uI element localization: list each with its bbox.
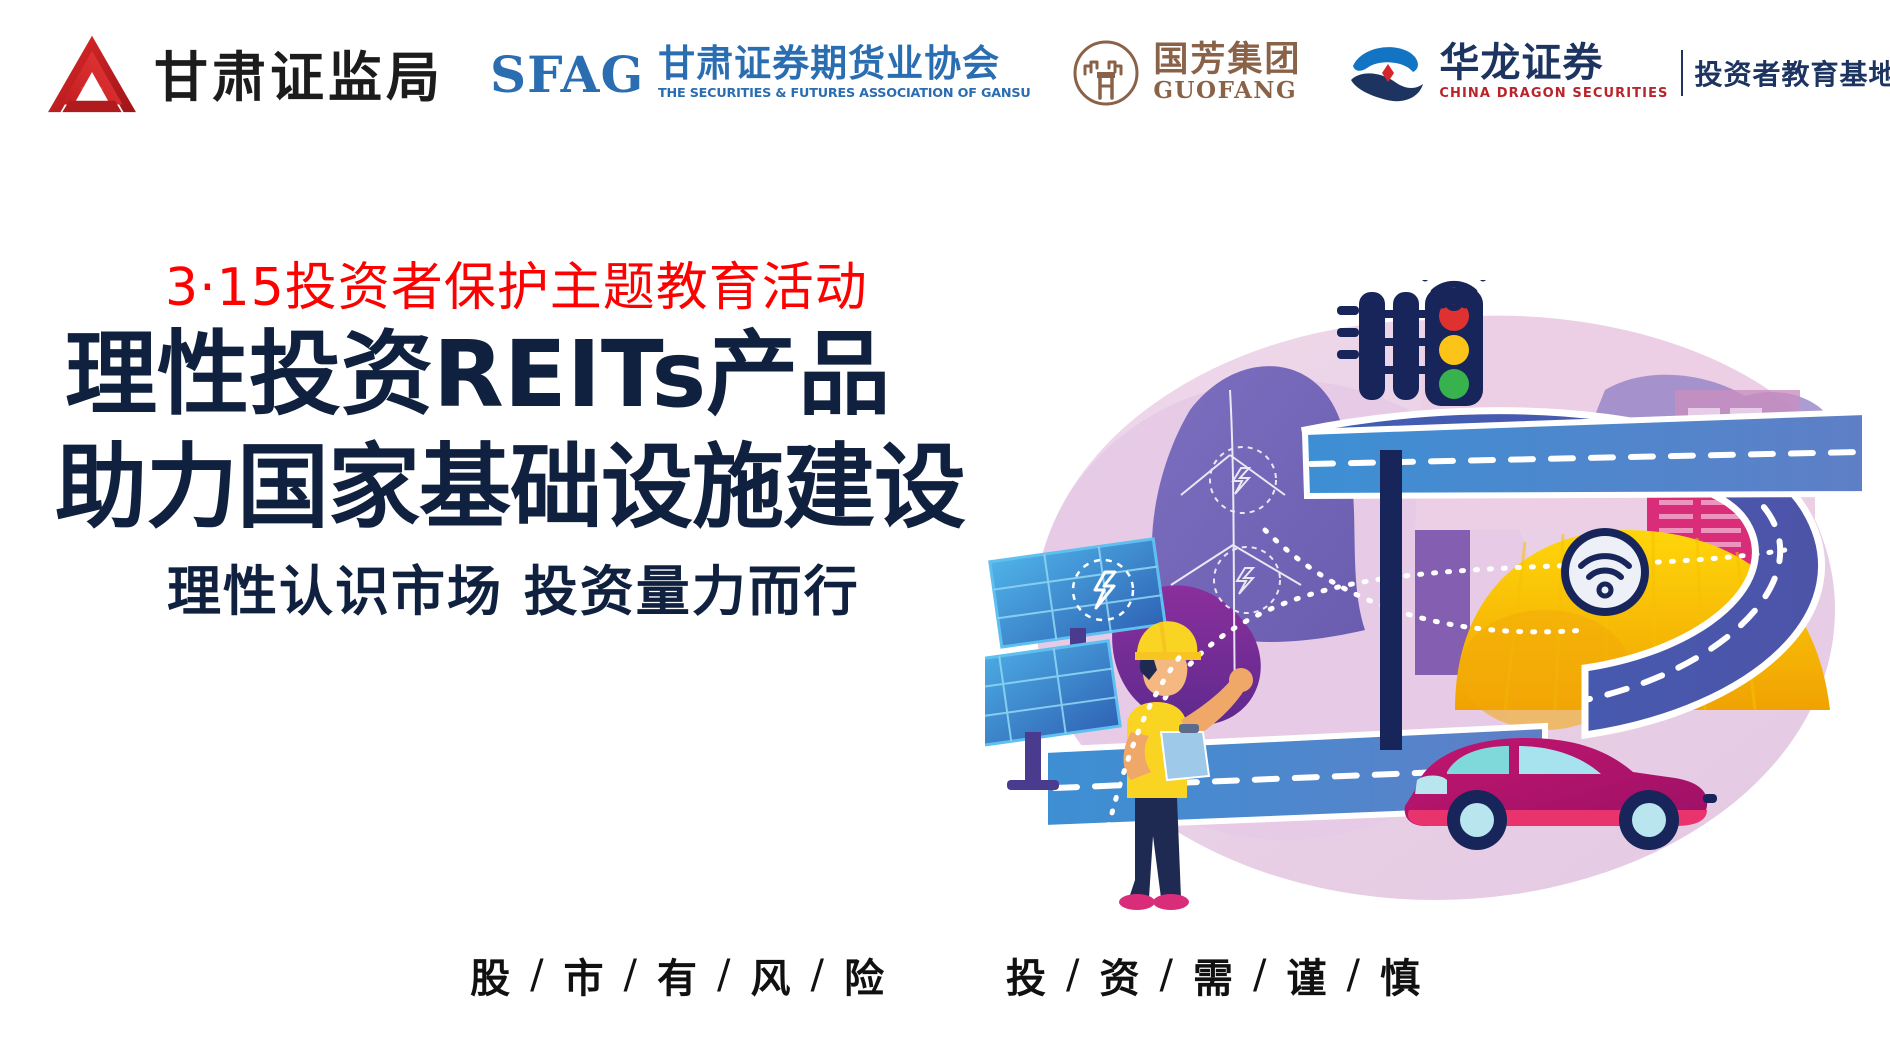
- slogan-char: 市: [564, 946, 604, 1004]
- logo-sfag-abbr: SFAG: [490, 50, 644, 100]
- slogan-left-group: 股 / 市 / 有 / 风 / 险: [454, 946, 900, 1004]
- wifi-badge: [1561, 528, 1649, 616]
- slogan-char: 谨: [1286, 946, 1326, 1004]
- logo-hualong-subtitle: 投资者教育基地: [1695, 53, 1890, 93]
- logo-hualong-divider: [1681, 50, 1683, 96]
- slogan-char: 股: [470, 946, 510, 1004]
- worker-leg: [1129, 798, 1181, 898]
- smart-city-infrastructure-illustration: [985, 280, 1865, 920]
- worker-shoe-right: [1153, 894, 1189, 910]
- worker-hand: [1229, 668, 1253, 692]
- slogan-char: 慎: [1380, 946, 1420, 1004]
- logo-sfag-english: THE SECURITIES & FUTURES ASSOCIATION OF …: [658, 85, 1030, 100]
- worker-shoe-left: [1119, 894, 1155, 910]
- slogan-separator: /: [1346, 952, 1359, 998]
- logo-guofang: 国芳集团 GUOFANG: [1071, 38, 1301, 108]
- logo-guofang-label: 国芳集团: [1153, 42, 1301, 79]
- logo-hualong: 华龙证券 CHINA DRAGON SECURITIES 投资者教育基地: [1347, 40, 1890, 106]
- logo-gansu-csrc-label: 甘肃证监局: [154, 33, 444, 112]
- slogan-separator: /: [1253, 952, 1266, 998]
- bottom-slogan: 股 / 市 / 有 / 风 / 险 投 / 资 / 需 / 谨 / 慎: [0, 946, 1890, 1004]
- slogan-char: 资: [1099, 946, 1139, 1004]
- slogan-separator: /: [1159, 952, 1172, 998]
- slogan-separator: /: [1066, 952, 1079, 998]
- worker-clipboard: [1161, 732, 1209, 780]
- slogan-separator: /: [624, 952, 637, 998]
- logo-hualong-english: CHINA DRAGON SECURITIES: [1439, 87, 1668, 101]
- logo-hualong-label: 华龙证券: [1439, 43, 1668, 84]
- slogan-char: 投: [1006, 946, 1046, 1004]
- slogan-separator: /: [530, 952, 543, 998]
- sponsor-logo-bar: 甘肃证监局 SFAG 甘肃证券期货业协会 THE SECURITIES & FU…: [0, 0, 1890, 145]
- logo-guofang-english: GUOFANG: [1153, 79, 1301, 103]
- traffic-light-yellow: [1439, 335, 1469, 365]
- headline-line-2: 助力国家基础设施建设: [55, 432, 1015, 544]
- headline-block: 3·15投资者保护主题教育活动 理性投资REITs产品 助力国家基础设施建设 理…: [55, 258, 1015, 625]
- slogan-right-group: 投 / 资 / 需 / 谨 / 慎: [990, 946, 1436, 1004]
- traffic-light-green: [1439, 369, 1469, 399]
- wave-diamond-emblem-icon: [1347, 40, 1429, 106]
- headline-line-1: 理性投资REITs产品: [65, 319, 1015, 431]
- slogan-char: 风: [751, 946, 791, 1004]
- logo-sfag-label: 甘肃证券期货业协会: [658, 45, 1000, 84]
- campaign-kicker: 3·15投资者保护主题教育活动: [165, 258, 1015, 319]
- slogan-char: 需: [1193, 946, 1233, 1004]
- headline-subline: 理性认识市场 投资量力而行: [167, 558, 1015, 626]
- slogan-separator: /: [811, 952, 824, 998]
- red-triangle-emblem-icon: [44, 30, 140, 116]
- slogan-char: 有: [657, 946, 697, 1004]
- slogan-separator: /: [717, 952, 730, 998]
- poster-canvas: 甘肃证监局 SFAG 甘肃证券期货业协会 THE SECURITIES & FU…: [0, 0, 1890, 1063]
- slogan-char: 险: [844, 946, 884, 1004]
- logo-gansu-csrc: 甘肃证监局: [44, 30, 444, 116]
- logo-sfag: SFAG 甘肃证券期货业协会 THE SECURITIES & FUTURES …: [490, 45, 1023, 101]
- deer-circle-emblem-icon: [1071, 38, 1141, 108]
